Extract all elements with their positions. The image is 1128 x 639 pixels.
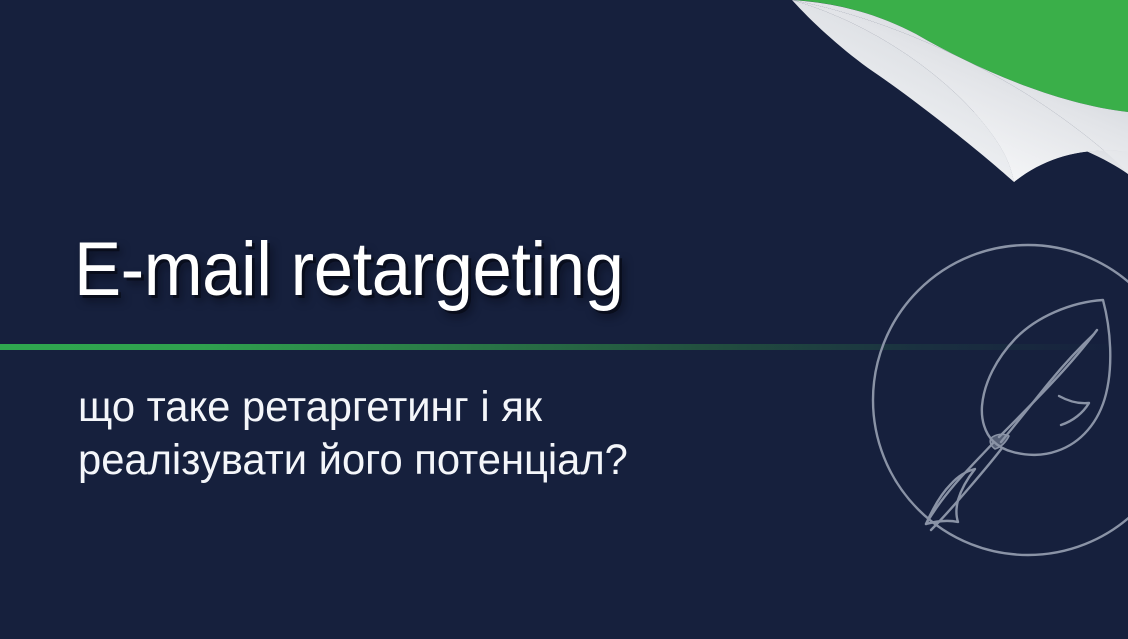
feather-icon bbox=[926, 300, 1110, 530]
logo-circle bbox=[873, 245, 1128, 555]
slide-canvas: E-mail retargeting що таке ретаргетинг і… bbox=[0, 0, 1128, 639]
page-curl-corner bbox=[728, 0, 1128, 220]
corner-green-area bbox=[794, 0, 1128, 112]
page-subtitle: що таке ретаргетинг і як реалізувати йог… bbox=[78, 381, 628, 487]
page-title: E-mail retargeting bbox=[74, 228, 623, 312]
curled-sheet bbox=[792, 0, 1128, 182]
green-accent-divider bbox=[0, 344, 1128, 350]
feather-quill-logo bbox=[863, 238, 1128, 568]
